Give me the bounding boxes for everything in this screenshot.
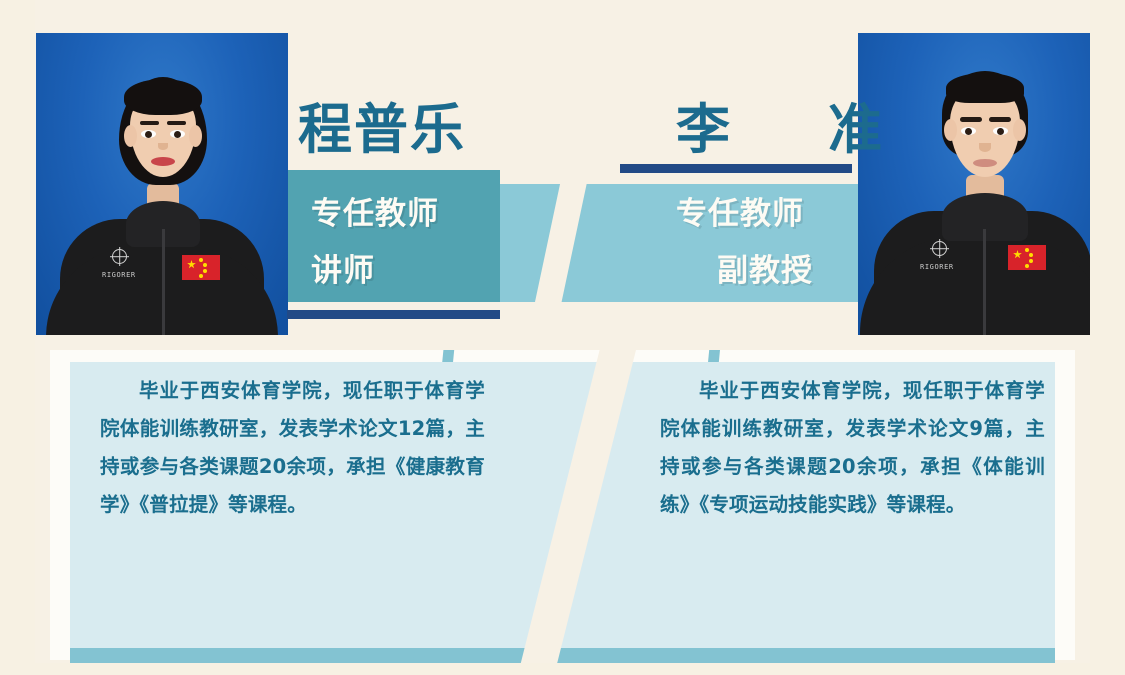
eye-left-l — [141, 130, 156, 138]
teacher-profile-poster: RIGORER RIGORER 程普乐 — [0, 0, 1125, 675]
teacher-title-right-1: 专任教师 — [676, 188, 804, 233]
eye-left-r — [170, 130, 185, 138]
rigorer-logo-icon-left — [112, 249, 127, 264]
jacket-zipper-left — [162, 229, 165, 335]
teacher-bio-right: 毕业于西安体育学院，现任职于体育学院体能训练教研室，发表学术论文9篇，主持或参与… — [660, 372, 1045, 524]
ear-right-l — [944, 119, 957, 141]
jacket-zipper-right — [983, 229, 986, 335]
rigorer-wordmark-left: RIGORER — [102, 271, 136, 279]
title-underline-left — [287, 310, 500, 319]
hair-fringe-right — [946, 73, 1024, 103]
teacher-name-left: 程普乐 — [298, 85, 466, 164]
name-underline-right — [620, 164, 852, 173]
rigorer-wordmark-right: RIGORER — [920, 263, 954, 271]
nose-right — [979, 143, 991, 152]
eyebrow-left-r — [167, 121, 186, 125]
nose-left — [158, 143, 168, 150]
eye-right-l — [961, 127, 976, 135]
lips-right — [973, 159, 997, 167]
ear-left-l — [124, 125, 137, 147]
teacher-title-left-2: 讲师 — [311, 245, 375, 290]
lips-left — [151, 157, 175, 166]
china-flag-left — [182, 255, 220, 280]
page-margin-right — [1090, 0, 1125, 675]
eyebrow-right-r — [989, 117, 1011, 122]
portrait-photo-right: RIGORER — [858, 33, 1110, 335]
page-margin-left — [0, 0, 35, 675]
teacher-title-left-1: 专任教师 — [311, 188, 439, 233]
portrait-photo-left: RIGORER — [36, 33, 288, 335]
hair-fringe-left — [124, 79, 202, 115]
teacher-bio-left: 毕业于西安体育学院，现任职于体育学院体能训练教研室，发表学术论文12篇，主持或参… — [100, 372, 485, 524]
ear-left-r — [189, 125, 202, 147]
ear-right-r — [1013, 119, 1026, 141]
teacher-title-right-2: 副教授 — [717, 245, 813, 290]
china-flag-right — [1008, 245, 1046, 270]
eyebrow-right-l — [960, 117, 982, 122]
page-footer-strip — [0, 663, 1125, 675]
eyebrow-left-l — [140, 121, 159, 125]
rigorer-logo-icon-right — [932, 241, 947, 256]
teacher-name-right: 李 准 — [676, 85, 904, 164]
eye-right-r — [993, 127, 1008, 135]
